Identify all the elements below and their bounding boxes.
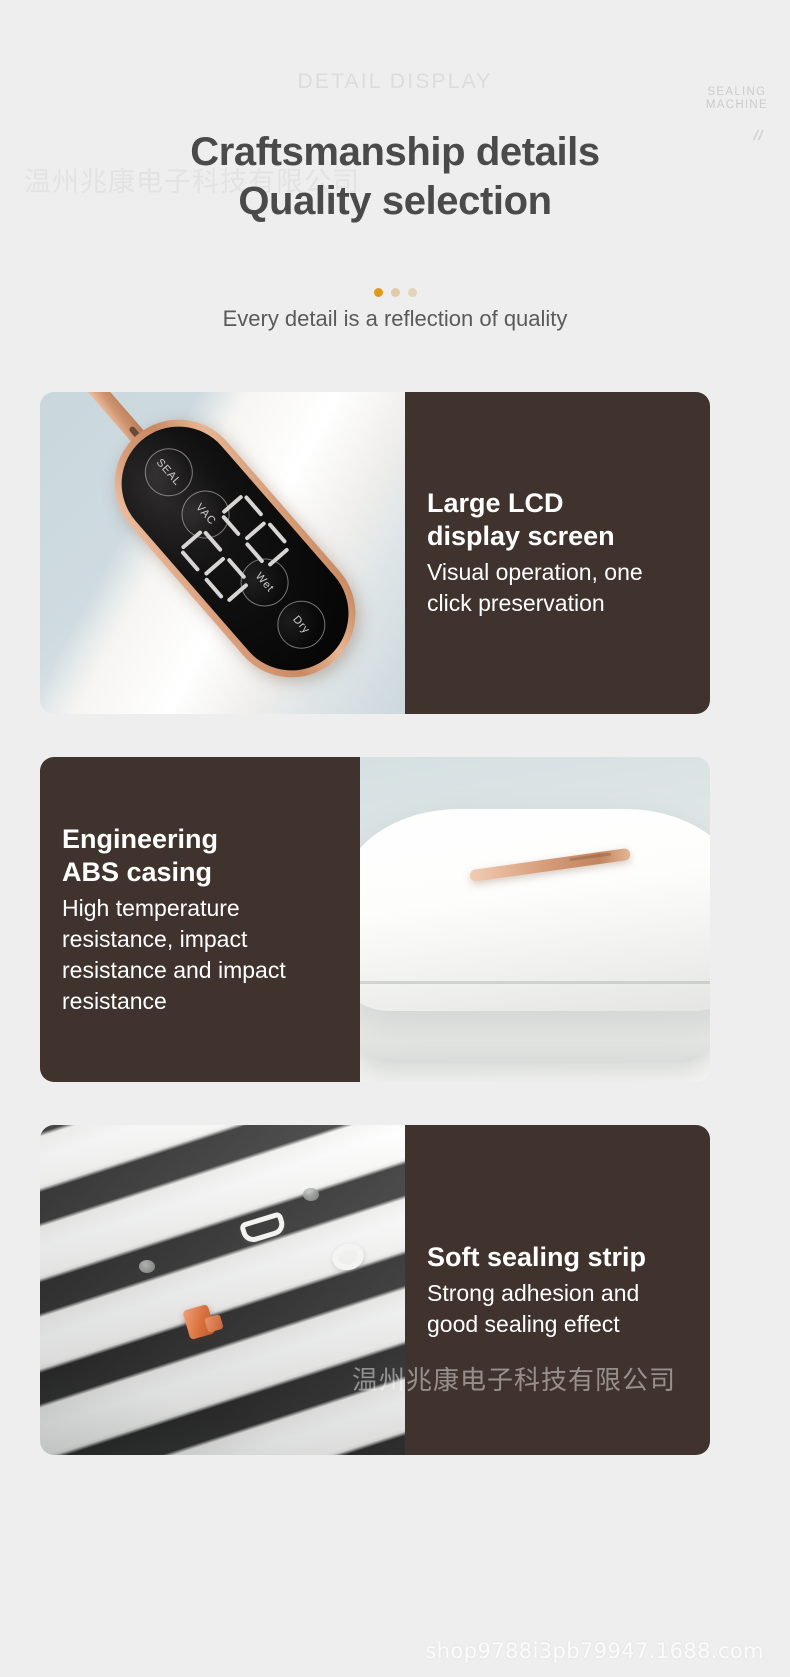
- corner-brand-line1: SEALING: [706, 86, 768, 99]
- dry-button-label: Dry: [290, 614, 312, 637]
- feature-card-lcd-title: Large LCD display screen: [427, 487, 688, 553]
- feature-card-abs-body: High temperature resistance, impact resi…: [62, 893, 338, 1017]
- feature-card-sealing-strip: Soft sealing strip Strong adhesion and g…: [40, 1125, 710, 1455]
- decorative-dots: [0, 288, 790, 297]
- photo-foam-sealing-strips: [40, 1125, 405, 1455]
- screw-1-icon: [139, 1260, 155, 1273]
- seal-button-label: SEAL: [154, 457, 184, 489]
- photo-shading: [40, 1125, 405, 1455]
- feature-card-lcd-body: Visual operation, one click preservation: [427, 557, 688, 619]
- rose-gold-handle: [469, 848, 631, 882]
- lcd-body-line2: click preservation: [427, 590, 605, 616]
- feature-card-abs-title: Engineering ABS casing: [62, 823, 338, 889]
- page-title-line2: Quality selection: [0, 177, 790, 226]
- feature-card-sealing-text: Soft sealing strip Strong adhesion and g…: [405, 1125, 710, 1455]
- feature-card-sealing-title: Soft sealing strip: [427, 1241, 688, 1274]
- dot-1-icon: [374, 288, 383, 297]
- corner-brand-tag: SEALING MACHINE: [706, 86, 768, 112]
- page-subtitle: Every detail is a reflection of quality: [0, 306, 790, 332]
- abs-body-line1: High temperature: [62, 895, 240, 921]
- feature-card-sealing-body: Strong adhesion and good sealing effect: [427, 1278, 688, 1340]
- feature-card-lcd: SEAL VAC Wet Dry: [40, 392, 710, 714]
- dot-2-icon: [391, 288, 400, 297]
- lid-shell: [360, 809, 710, 1011]
- lcd-title-line1: Large LCD: [427, 488, 564, 518]
- feature-card-abs-text: Engineering ABS casing High temperature …: [40, 757, 360, 1082]
- sealing-body-line2: good sealing effect: [427, 1311, 620, 1337]
- abs-title-line2: ABS casing: [62, 857, 212, 887]
- abs-title-line1: Engineering: [62, 824, 218, 854]
- page-title-line1: Craftsmanship details: [190, 130, 600, 174]
- sealing-body-line1: Strong adhesion and: [427, 1280, 639, 1306]
- abs-body-line4: resistance: [62, 988, 167, 1014]
- feature-card-abs: Engineering ABS casing High temperature …: [40, 757, 710, 1082]
- abs-body-line2: resistance, impact: [62, 926, 247, 952]
- abs-body-line3: resistance and impact: [62, 957, 286, 983]
- screw-2-icon: [303, 1188, 319, 1201]
- feature-card-lcd-text: Large LCD display screen Visual operatio…: [405, 392, 710, 714]
- eyebrow-label: DETAIL DISPLAY: [0, 70, 790, 94]
- photo-lcd-control-panel: SEAL VAC Wet Dry: [40, 392, 405, 714]
- lcd-title-line2: display screen: [427, 521, 615, 551]
- page-title: Craftsmanship details Quality selection: [0, 128, 790, 226]
- dot-3-icon: [408, 288, 417, 297]
- footer-shop-url: shop9788i3pb79947.1688.com: [425, 1639, 764, 1663]
- photo-white-abs-lid: [360, 757, 710, 1082]
- product-detail-page: 温州兆康电子科技有限公司 DETAIL DISPLAY SEALING MACH…: [0, 0, 790, 1677]
- lcd-body-line1: Visual operation, one: [427, 559, 643, 585]
- corner-brand-line2: MACHINE: [706, 99, 768, 112]
